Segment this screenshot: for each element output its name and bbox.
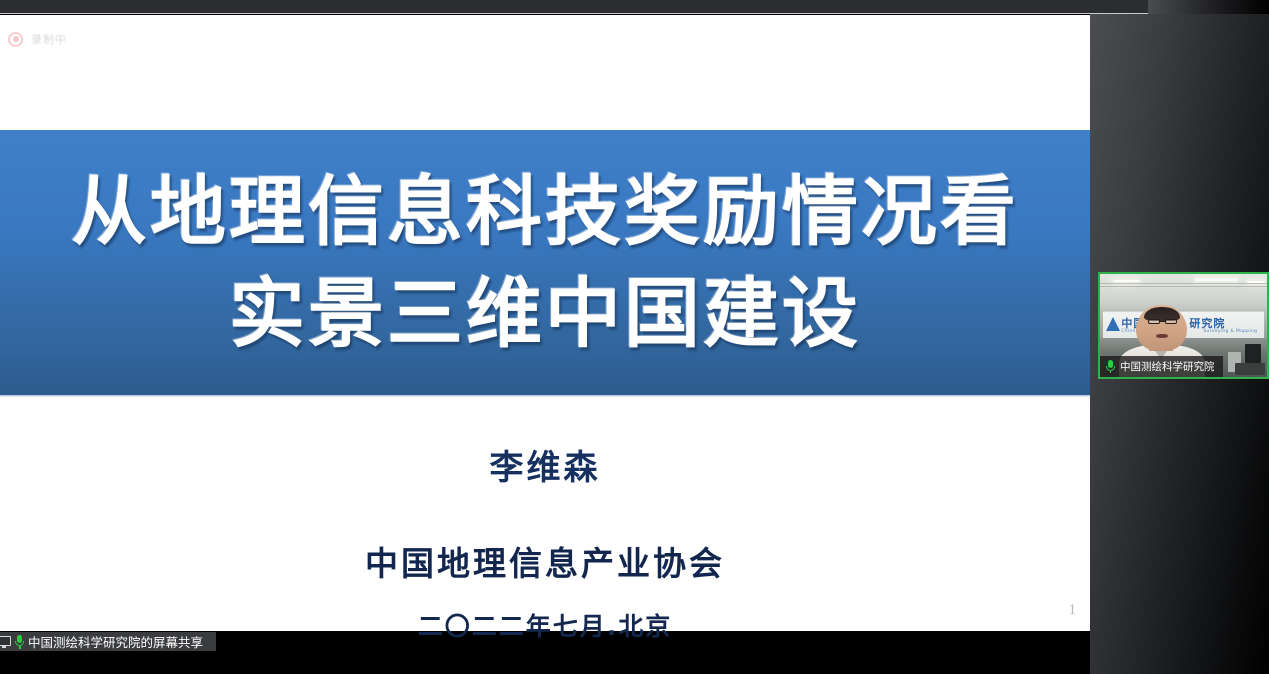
institute-logo-icon — [1106, 317, 1120, 331]
microphone-icon — [1105, 360, 1115, 373]
backdrop-logo-en-right: Surveying & Mapping — [1203, 329, 1257, 334]
participant-name-label: 中国测绘科学研究院 — [1120, 359, 1215, 374]
slide-author-name: 李维森 — [490, 440, 601, 489]
ceiling-seam — [1100, 286, 1267, 287]
glasses-icon — [1148, 319, 1177, 325]
recording-label: 录制中 — [31, 31, 67, 47]
slide-title-banner: 从地理信息科技奖励情况看 实景三维中国建设 — [0, 130, 1090, 395]
recording-indicator[interactable]: 录制中 — [8, 31, 67, 47]
screen-share-label: 中国测绘科学研究院的屏幕共享 — [28, 632, 203, 651]
participant-name-chip: 中国测绘科学研究院 — [1100, 356, 1223, 377]
slide-page-number: 1 — [1069, 602, 1077, 619]
titlebar-right-fade — [1148, 0, 1269, 14]
window-titlebar[interactable] — [0, 0, 1269, 14]
slide-date-place: 二〇二二年七月.北京 — [418, 607, 673, 643]
microphone-icon — [14, 635, 25, 649]
banner-bottom-edge — [0, 395, 1090, 398]
participant-video-tile[interactable]: 中国 研究院 Chinese Academy of Surveying & Ma… — [1098, 272, 1269, 379]
slide-organization: 中国地理信息产业协会 — [365, 537, 725, 585]
desk-equipment — [1235, 363, 1265, 375]
screen-share-status-bar[interactable]: 中国测绘科学研究院的屏幕共享 — [0, 632, 216, 651]
slide-title-line-1: 从地理信息科技奖励情况看 — [71, 170, 1019, 254]
record-circle-icon — [8, 32, 23, 47]
slide-author-block: 李维森 中国地理信息产业协会 二〇二二年七月.北京 — [0, 440, 1090, 643]
shared-slide[interactable]: 录制中 从地理信息科技奖励情况看 实景三维中国建设 李维森 中国地理信息产业协会… — [0, 15, 1090, 631]
person-head — [1136, 305, 1187, 352]
ceiling-light-icon — [1195, 278, 1239, 281]
zoom-screen-share-window: 录制中 从地理信息科技奖励情况看 实景三维中国建设 李维森 中国地理信息产业协会… — [0, 0, 1269, 674]
screen-share-icon — [0, 636, 11, 648]
person-mouth — [1156, 334, 1168, 338]
slide-title-line-2: 实景三维中国建设 — [229, 272, 861, 356]
ceiling-seam — [1100, 283, 1267, 284]
ceiling-light-icon — [1113, 280, 1140, 282]
